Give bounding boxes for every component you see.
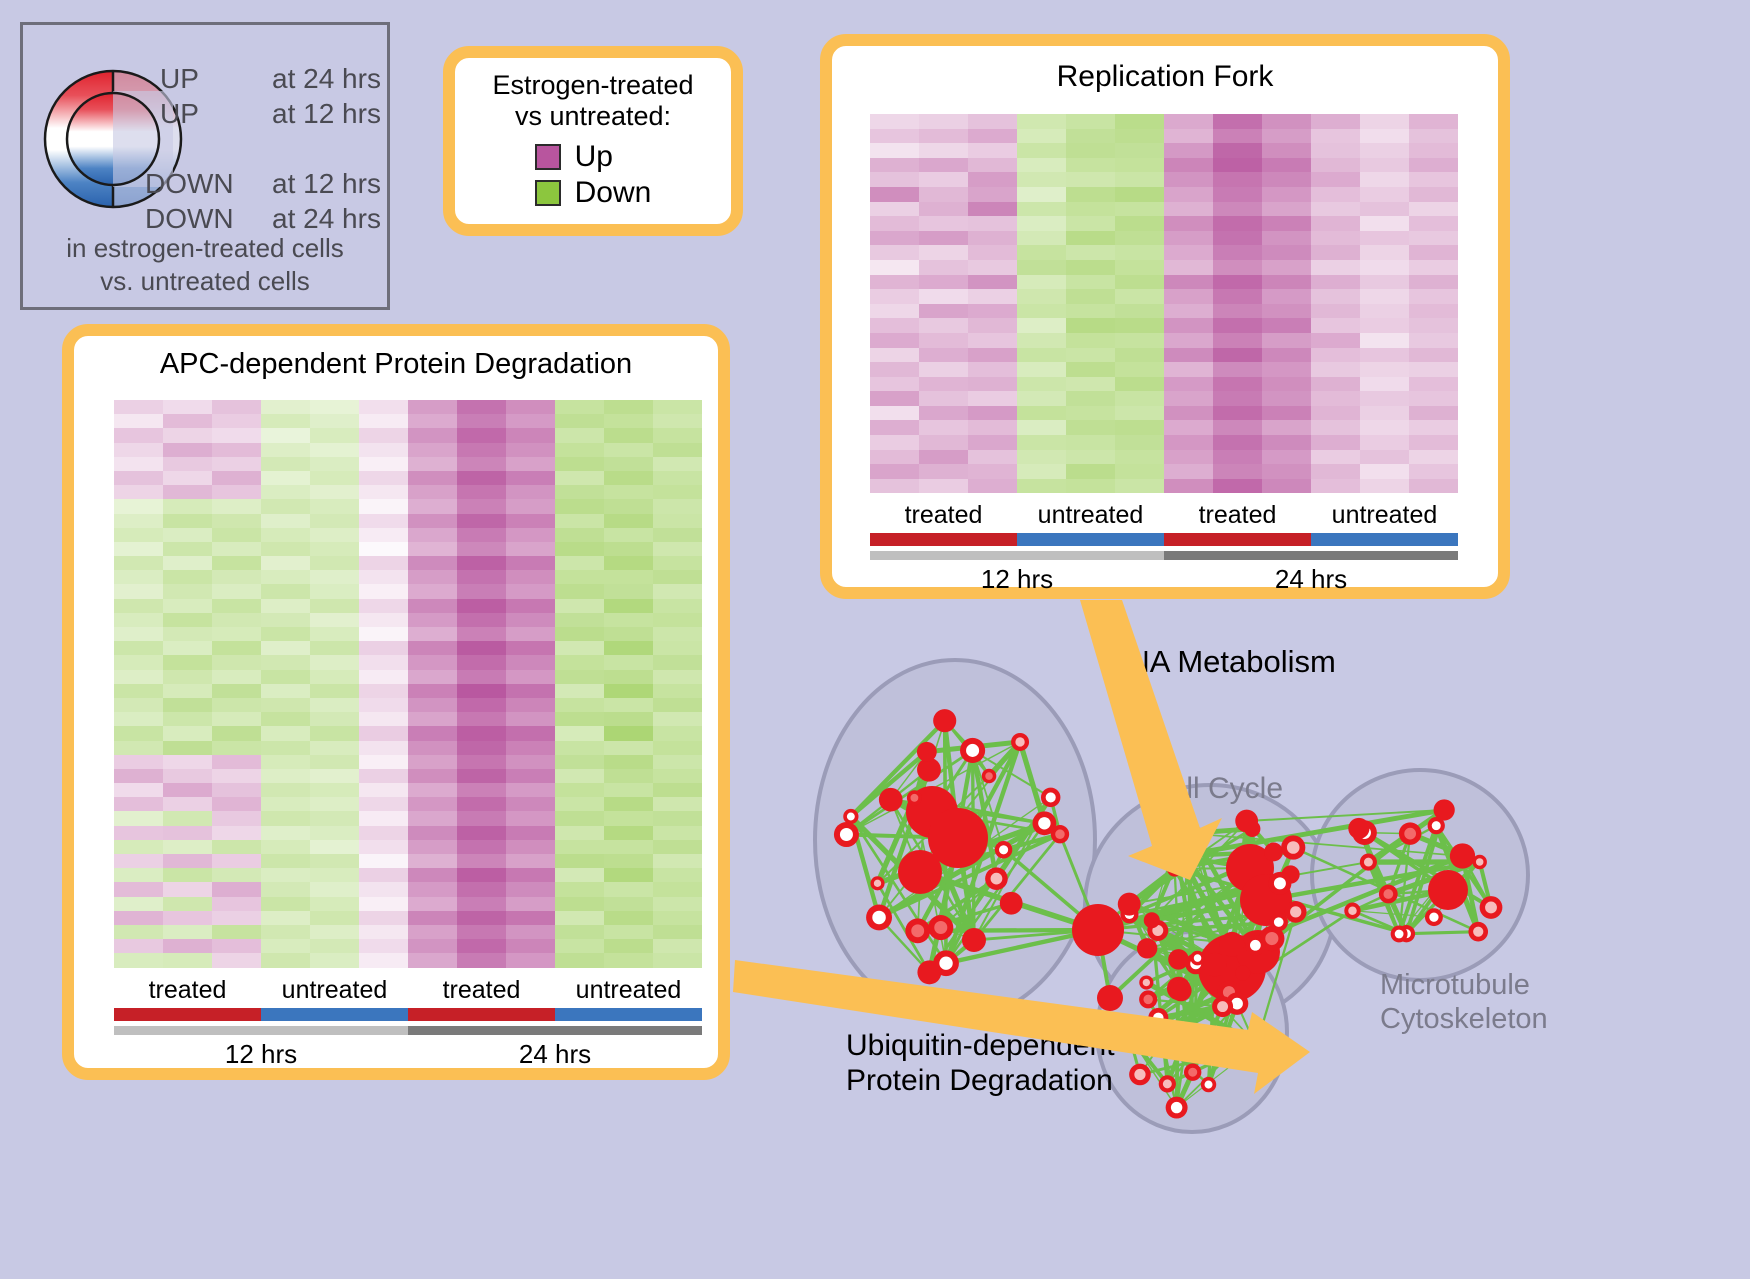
heatmap-cell <box>968 420 1017 435</box>
heatmap-cell <box>604 443 653 457</box>
heatmap-cell <box>968 406 1017 421</box>
heatmap-cell <box>1262 318 1311 333</box>
heatmap-cell <box>1066 275 1115 290</box>
heatmap-cell <box>555 627 604 641</box>
heatmap-cell <box>261 514 310 528</box>
heatmap-cell <box>870 333 919 348</box>
heatmap-cell <box>212 854 261 868</box>
heatmap-cell <box>163 925 212 939</box>
heatmap-cell <box>555 428 604 442</box>
heatmap-cell <box>1115 435 1164 450</box>
heatmap-cell <box>1360 260 1409 275</box>
heatmap-cell <box>408 811 457 825</box>
heatmap-cell <box>1115 406 1164 421</box>
heatmap-cell <box>604 641 653 655</box>
heatmap-cell <box>968 129 1017 144</box>
heatmap-cell <box>653 755 702 769</box>
heatmap-cell <box>310 414 359 428</box>
legend-item-down: Down <box>535 176 652 210</box>
heatmap-cell <box>555 698 604 712</box>
heatmap-cell <box>555 911 604 925</box>
heatmap-cell <box>261 684 310 698</box>
heatmap-cell <box>408 797 457 811</box>
heatmap-cell <box>1262 348 1311 363</box>
heatmap-cell <box>1213 216 1262 231</box>
heatmap-cell <box>1262 275 1311 290</box>
heatmap-cell <box>1409 435 1458 450</box>
axis-replication-fork: treateduntreatedtreateduntreated 12 hrs2… <box>870 501 1458 595</box>
heatmap-cell <box>1115 114 1164 129</box>
heatmap-cell <box>968 231 1017 246</box>
heatmap-cell <box>1360 231 1409 246</box>
heatmap-cell <box>310 783 359 797</box>
heatmap-cell <box>1360 216 1409 231</box>
heatmap-cell <box>1164 348 1213 363</box>
heatmap-cell <box>1066 158 1115 173</box>
heatmap-cell <box>359 514 408 528</box>
heatmap-cell <box>919 450 968 465</box>
network-node <box>1468 922 1488 942</box>
heatmap-cell <box>310 939 359 953</box>
heatmap-cell <box>1360 304 1409 319</box>
axis-group-label: untreated <box>1017 501 1164 530</box>
heatmap-cell <box>408 684 457 698</box>
legend-label: Down <box>575 176 652 210</box>
heatmap-cell <box>1360 202 1409 217</box>
heatmap-cell <box>1164 158 1213 173</box>
heatmap-cell <box>604 755 653 769</box>
heatmap-cell <box>1164 216 1213 231</box>
heatmap-cell <box>114 542 163 556</box>
heatmap-cell <box>1262 362 1311 377</box>
heatmap-cell <box>163 726 212 740</box>
heatmap-cell <box>212 811 261 825</box>
heatmap-cell <box>1360 129 1409 144</box>
heatmap-cell <box>457 414 506 428</box>
heatmap-cell <box>919 216 968 231</box>
heatmap-cell <box>408 939 457 953</box>
heatmap-cell <box>1360 333 1409 348</box>
heatmap-cell <box>408 599 457 613</box>
heatmap-cell <box>1409 362 1458 377</box>
heatmap-cell <box>1017 114 1066 129</box>
heatmap-cell <box>1017 260 1066 275</box>
heatmap-cell <box>114 741 163 755</box>
heatmap-cell <box>1409 114 1458 129</box>
heatmap-cell <box>310 826 359 840</box>
heatmap-cell <box>212 641 261 655</box>
heatmap-cell <box>506 499 555 513</box>
heatmap-cell <box>506 655 555 669</box>
network-node <box>1245 935 1266 956</box>
network-node <box>1399 822 1422 845</box>
heatmap-cell <box>555 471 604 485</box>
heatmap-cell <box>555 726 604 740</box>
heatmap-cell <box>1409 420 1458 435</box>
heatmap-cell <box>1066 231 1115 246</box>
heatmap-cell <box>1066 450 1115 465</box>
network-node <box>1159 1075 1176 1092</box>
heatmap-cell <box>163 542 212 556</box>
heatmap-cell <box>114 457 163 471</box>
heatmap-cell <box>408 925 457 939</box>
network-node <box>1360 854 1377 871</box>
network-node <box>962 928 986 952</box>
axis-apc: treateduntreatedtreateduntreated 12 hrs2… <box>114 976 702 1070</box>
heatmap-cell <box>1311 143 1360 158</box>
heatmap-cell <box>604 783 653 797</box>
network-node <box>1348 818 1369 839</box>
heatmap-cell <box>212 443 261 457</box>
heatmap-cell <box>261 443 310 457</box>
heatmap-cell <box>604 428 653 442</box>
heatmap-cell <box>1066 289 1115 304</box>
heatmap-cell <box>457 882 506 896</box>
heatmap-cell <box>653 471 702 485</box>
heatmap-cell <box>506 726 555 740</box>
heatmap-cell <box>212 840 261 854</box>
heatmap-cell <box>1360 172 1409 187</box>
heatmap-cell <box>968 479 1017 494</box>
heatmap-cell <box>1213 245 1262 260</box>
heatmap-cell <box>968 187 1017 202</box>
heatmap-cell <box>310 542 359 556</box>
heatmap-cell <box>212 925 261 939</box>
heatmap-cell <box>870 289 919 304</box>
heatmap-cell <box>555 925 604 939</box>
heatmap-cell <box>1409 406 1458 421</box>
heatmap-cell <box>1164 304 1213 319</box>
heatmap-cell <box>1311 231 1360 246</box>
network-node <box>866 904 892 930</box>
heatmap-cell <box>1409 129 1458 144</box>
heatmap-cell <box>1213 377 1262 392</box>
heatmap-cell <box>604 613 653 627</box>
heatmap-cell <box>506 797 555 811</box>
heatmap-cell <box>653 939 702 953</box>
heatmap-cell <box>261 584 310 598</box>
heatmap-cell <box>359 882 408 896</box>
heatmap-cell <box>212 599 261 613</box>
heatmap-cell <box>968 348 1017 363</box>
time-label: 24 hrs <box>1164 564 1458 595</box>
updown-title-line1: Estrogen-treated <box>492 70 693 101</box>
heatmap-cell <box>114 826 163 840</box>
heatmap-cell <box>1213 114 1262 129</box>
network-node <box>982 769 997 784</box>
heatmap-cell <box>163 783 212 797</box>
heatmap-cell <box>261 712 310 726</box>
heatmap-cell <box>506 443 555 457</box>
heatmap-cell <box>1017 158 1066 173</box>
heatmap-cell <box>555 811 604 825</box>
heatmap-cell <box>114 797 163 811</box>
heatmap-cell <box>653 826 702 840</box>
heatmap-cell <box>359 414 408 428</box>
heatmap-cell <box>359 457 408 471</box>
heatmap-cell <box>310 443 359 457</box>
heatmap-cell <box>212 797 261 811</box>
time-bar <box>114 1026 408 1035</box>
heatmap-cell <box>261 655 310 669</box>
heatmap-cell <box>653 698 702 712</box>
heatmap-cell <box>212 485 261 499</box>
heatmap-cell <box>1213 158 1262 173</box>
heatmap-cell <box>1213 304 1262 319</box>
heatmap-cell <box>457 712 506 726</box>
heatmap-cell <box>163 641 212 655</box>
heatmap-cell <box>653 911 702 925</box>
heatmap-cell <box>457 840 506 854</box>
heatmap-cell <box>653 641 702 655</box>
heatmap-cell <box>555 755 604 769</box>
heatmap-cell <box>310 627 359 641</box>
heatmap-cell <box>1115 391 1164 406</box>
heatmap-cell <box>870 158 919 173</box>
heatmap-cell <box>1115 377 1164 392</box>
heatmap-cell <box>310 655 359 669</box>
heatmap-cell <box>1066 377 1115 392</box>
network-node <box>870 876 884 890</box>
heatmap-cell <box>1262 143 1311 158</box>
heatmap-cell <box>359 570 408 584</box>
heatmap-cell <box>506 627 555 641</box>
heatmap-cell <box>555 570 604 584</box>
network-node <box>1379 885 1398 904</box>
heatmap-cell <box>1017 391 1066 406</box>
heatmap-cell <box>1017 318 1066 333</box>
heatmap-cell <box>310 911 359 925</box>
heatmap-cell <box>261 599 310 613</box>
heatmap-cell <box>1066 260 1115 275</box>
heatmap-cell <box>1311 172 1360 187</box>
heatmap-cell <box>653 655 702 669</box>
heatmap-cell <box>1213 143 1262 158</box>
heatmap-cell <box>1115 348 1164 363</box>
heatmap-cell <box>653 457 702 471</box>
heatmap-cell <box>653 840 702 854</box>
heatmap-cell <box>457 670 506 684</box>
heatmap-cell <box>1115 202 1164 217</box>
heatmap-cell <box>1017 129 1066 144</box>
network-node <box>1450 843 1475 868</box>
heatmap-cell <box>310 726 359 740</box>
heatmap-cell <box>114 443 163 457</box>
heatmap-cell <box>1311 187 1360 202</box>
heatmap-cell <box>114 599 163 613</box>
network-node <box>1391 926 1408 943</box>
heatmap-cell <box>1164 377 1213 392</box>
heatmap-cell <box>870 391 919 406</box>
heatmap-cell <box>506 613 555 627</box>
heatmap-cell <box>261 755 310 769</box>
heatmap-cell <box>1360 406 1409 421</box>
network-node <box>834 822 859 847</box>
heatmap-cell <box>919 158 968 173</box>
heatmap-cell <box>457 868 506 882</box>
heatmap-cell <box>457 542 506 556</box>
heatmap-cell <box>1360 479 1409 494</box>
heatmap-cell <box>408 726 457 740</box>
heatmap-cell <box>163 882 212 896</box>
heatmap-cell <box>604 953 653 967</box>
heatmap-cell <box>506 925 555 939</box>
heatmap-cell <box>555 670 604 684</box>
heatmap-cell <box>457 400 506 414</box>
heatmap-cell <box>1066 420 1115 435</box>
axis-group-bar <box>1017 533 1164 546</box>
replication-fork-title: Replication Fork <box>832 46 1498 94</box>
heatmap-cell <box>870 479 919 494</box>
panel-replication-fork: Replication Fork treateduntreatedtreated… <box>820 34 1510 599</box>
heatmap-cell <box>359 542 408 556</box>
heatmap-cell <box>653 613 702 627</box>
heatmap-cell <box>968 464 1017 479</box>
heatmap-cell <box>1311 202 1360 217</box>
axis-group-label: treated <box>408 976 555 1005</box>
heatmap-cell <box>1311 435 1360 450</box>
heatmap-cell <box>555 584 604 598</box>
heatmap-cell <box>1262 333 1311 348</box>
heatmap-cell <box>457 797 506 811</box>
heatmap-cell <box>968 202 1017 217</box>
heatmap-cell <box>163 556 212 570</box>
heatmap-cell <box>919 172 968 187</box>
heatmap-cell <box>261 698 310 712</box>
heatmap-cell <box>212 953 261 967</box>
heatmap-cell <box>163 485 212 499</box>
heatmap-cell <box>604 570 653 584</box>
heatmap-cell <box>457 584 506 598</box>
heatmap-replication-fork <box>870 114 1458 493</box>
heatmap-cell <box>408 911 457 925</box>
heatmap-cell <box>1115 216 1164 231</box>
network-node <box>917 742 937 762</box>
heatmap-cell <box>1311 158 1360 173</box>
heatmap-cell <box>1066 202 1115 217</box>
heatmap-cell <box>114 514 163 528</box>
heatmap-cell <box>1311 420 1360 435</box>
heatmap-cell <box>506 641 555 655</box>
network-node <box>1201 1077 1216 1092</box>
heatmap-cell <box>261 499 310 513</box>
heatmap-cell <box>114 953 163 967</box>
heatmap-cell <box>359 599 408 613</box>
heatmap-cell <box>653 897 702 911</box>
heatmap-cell <box>1017 275 1066 290</box>
heatmap-cell <box>653 882 702 896</box>
heatmap-cell <box>261 939 310 953</box>
heatmap-cell <box>555 939 604 953</box>
heatmap-cell <box>1115 172 1164 187</box>
network-node <box>1235 810 1258 833</box>
heatmap-cell <box>310 599 359 613</box>
heatmap-cell <box>1311 129 1360 144</box>
heatmap-cell <box>1164 231 1213 246</box>
heatmap-cell <box>408 414 457 428</box>
heatmap-cell <box>919 479 968 494</box>
heatmap-cell <box>212 698 261 712</box>
heatmap-cell <box>653 400 702 414</box>
network-node <box>843 809 858 824</box>
heatmap-cell <box>870 216 919 231</box>
heatmap-cell <box>870 231 919 246</box>
heatmap-cell <box>163 684 212 698</box>
heatmap-cell <box>1311 318 1360 333</box>
key-label-down-12: DOWN <box>145 168 234 200</box>
heatmap-cell <box>310 641 359 655</box>
heatmap-cell <box>457 655 506 669</box>
heatmap-cell <box>1115 275 1164 290</box>
heatmap-cell <box>604 741 653 755</box>
heatmap-cell <box>212 726 261 740</box>
heatmap-cell <box>968 260 1017 275</box>
heatmap-cell <box>1360 391 1409 406</box>
heatmap-cell <box>1360 464 1409 479</box>
heatmap-cell <box>653 741 702 755</box>
heatmap-cell <box>1164 187 1213 202</box>
heatmap-cell <box>163 911 212 925</box>
heatmap-cell <box>114 911 163 925</box>
network-node <box>1270 913 1288 931</box>
heatmap-cell <box>1017 172 1066 187</box>
heatmap-cell <box>1213 202 1262 217</box>
heatmap-cell <box>604 485 653 499</box>
heatmap-cell <box>408 783 457 797</box>
heatmap-cell <box>555 854 604 868</box>
up-swatch-icon <box>535 144 561 170</box>
heatmap-cell <box>1311 245 1360 260</box>
network-diagram: DNA Metabolism Cell Cycle Microtubule Cy… <box>780 600 1740 1279</box>
heatmap-cell <box>604 684 653 698</box>
heatmap-cell <box>408 854 457 868</box>
network-node <box>1166 1097 1188 1119</box>
heatmap-cell <box>919 318 968 333</box>
heatmap-cell <box>506 939 555 953</box>
heatmap-cell <box>359 712 408 726</box>
heatmap-cell <box>163 755 212 769</box>
axis-group-bar <box>1164 533 1311 546</box>
heatmap-cell <box>555 499 604 513</box>
heatmap-cell <box>457 811 506 825</box>
heatmap-cell <box>1213 260 1262 275</box>
heatmap-cell <box>114 641 163 655</box>
heatmap-cell <box>408 613 457 627</box>
heatmap-cell <box>1409 377 1458 392</box>
heatmap-cell <box>359 641 408 655</box>
heatmap-cell <box>1066 187 1115 202</box>
heatmap-cell <box>1213 289 1262 304</box>
heatmap-cell <box>1066 318 1115 333</box>
heatmap-cell <box>1262 158 1311 173</box>
legend-up-down: Estrogen-treated vs untreated: UpDown <box>443 46 743 236</box>
heatmap-cell <box>408 542 457 556</box>
heatmap-cell <box>1360 318 1409 333</box>
heatmap-cell <box>1164 202 1213 217</box>
heatmap-cell <box>310 840 359 854</box>
heatmap-cell <box>653 542 702 556</box>
heatmap-cell <box>653 726 702 740</box>
heatmap-cell <box>1213 333 1262 348</box>
heatmap-cell <box>359 670 408 684</box>
heatmap-cell <box>261 840 310 854</box>
heatmap-cell <box>261 797 310 811</box>
heatmap-cell <box>1115 158 1164 173</box>
heatmap-cell <box>457 783 506 797</box>
heatmap-cell <box>114 769 163 783</box>
heatmap-cell <box>359 925 408 939</box>
heatmap-cell <box>408 627 457 641</box>
